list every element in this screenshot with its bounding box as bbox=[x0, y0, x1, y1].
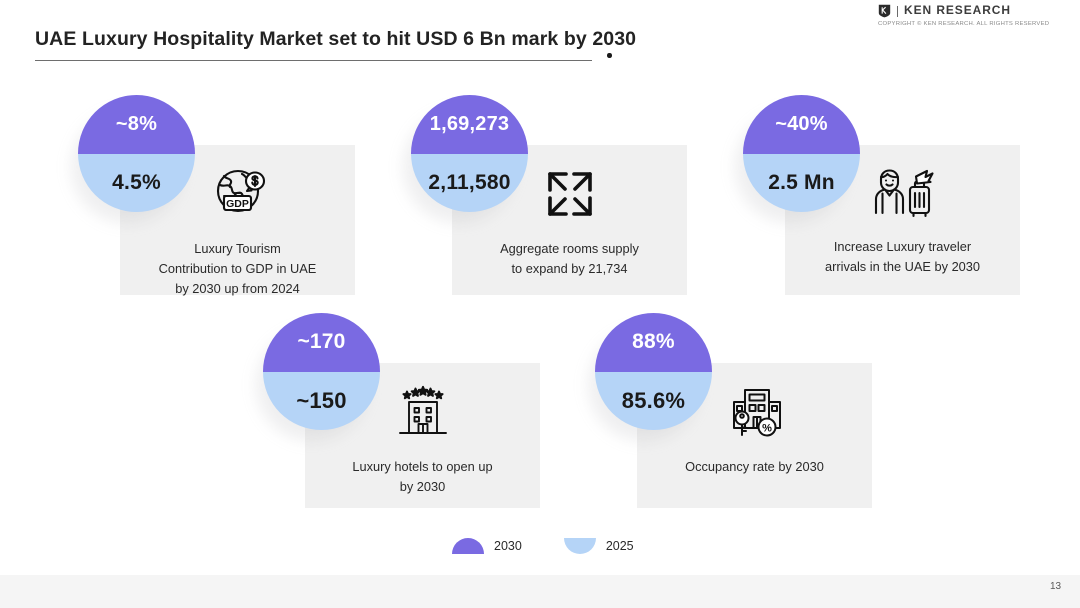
bubble-value-2030: ~8% bbox=[116, 113, 157, 136]
bubble-value-2030: ~40% bbox=[775, 113, 828, 136]
legend-label-2025: 2025 bbox=[606, 539, 634, 553]
stat-bubble-aggregate-rooms-supply[interactable]: 1,69,273 2,11,580 bbox=[411, 95, 528, 212]
chart-legend: 2030 2025 bbox=[452, 538, 634, 554]
stat-card-caption: Luxury hotels to open up by 2030 bbox=[352, 457, 492, 497]
bubble-half-2030: 1,69,273 bbox=[411, 95, 528, 154]
stat-card-caption: Aggregate rooms supply to expand by 21,7… bbox=[500, 239, 639, 279]
bubble-value-2025: 2,11,580 bbox=[428, 171, 510, 195]
page-title: UAE Luxury Hospitality Market set to hit… bbox=[35, 28, 675, 51]
title-underline bbox=[35, 60, 592, 61]
bubble-half-2030: ~170 bbox=[263, 313, 380, 372]
page-number: 13 bbox=[1050, 581, 1061, 592]
bubble-half-2025: 2.5 Mn bbox=[743, 154, 860, 213]
brand-divider bbox=[897, 6, 898, 17]
stat-card-caption: Luxury Tourism Contribution to GDP in UA… bbox=[159, 239, 317, 299]
stat-card-caption: Increase Luxury traveler arrivals in the… bbox=[825, 237, 980, 277]
five-star-hotel-icon bbox=[392, 381, 454, 443]
legend-item-2025[interactable]: 2025 bbox=[564, 538, 634, 554]
bubble-value-2030: 1,69,273 bbox=[430, 113, 509, 136]
page-title-block: UAE Luxury Hospitality Market set to hit… bbox=[35, 28, 675, 61]
title-bullet-dot bbox=[607, 53, 612, 58]
legend-label-2030: 2030 bbox=[494, 539, 522, 553]
bubble-value-2025: ~150 bbox=[296, 388, 346, 414]
bubble-value-2025: 4.5% bbox=[112, 171, 161, 195]
bubble-half-2030: ~40% bbox=[743, 95, 860, 154]
bubble-value-2030: ~170 bbox=[297, 330, 345, 354]
legend-swatch-2030-icon bbox=[452, 538, 484, 554]
hotel-key-percent-icon: % bbox=[724, 381, 786, 443]
legend-swatch-2025-icon bbox=[564, 538, 596, 554]
globe-gdp-dollar-icon: GDP bbox=[208, 163, 268, 225]
stat-card-caption: Occupancy rate by 2030 bbox=[685, 457, 824, 477]
stat-bubble-luxury-hotels-openings[interactable]: ~170 ~150 bbox=[263, 313, 380, 430]
expand-arrows-icon bbox=[542, 163, 598, 225]
bubble-value-2025: 2.5 Mn bbox=[768, 171, 835, 195]
bubble-half-2025: 4.5% bbox=[78, 154, 195, 213]
bubble-half-2025: 85.6% bbox=[595, 372, 712, 431]
bubble-half-2030: ~8% bbox=[78, 95, 195, 154]
stat-bubble-luxury-tourism-gdp[interactable]: ~8% 4.5% bbox=[78, 95, 195, 212]
footer-copyright: COPYRIGHT © KEN RESEARCH. ALL RIGHTS RES… bbox=[878, 21, 1049, 27]
bubble-half-2025: ~150 bbox=[263, 372, 380, 431]
brand-name: KEN RESEARCH bbox=[904, 5, 1011, 17]
footer-bar bbox=[0, 575, 1080, 608]
bubble-half-2025: 2,11,580 bbox=[411, 154, 528, 213]
svg-text:%: % bbox=[762, 423, 772, 435]
bubble-half-2030: 88% bbox=[595, 313, 712, 372]
brand-logo: KEN RESEARCH bbox=[878, 4, 1007, 18]
traveler-luggage-plane-icon bbox=[872, 161, 934, 223]
svg-text:GDP: GDP bbox=[226, 198, 249, 210]
bubble-value-2030: 88% bbox=[632, 330, 675, 354]
ken-shield-icon bbox=[878, 4, 891, 18]
legend-item-2030[interactable]: 2030 bbox=[452, 538, 522, 554]
stat-bubble-luxury-traveler-arrivals[interactable]: ~40% 2.5 Mn bbox=[743, 95, 860, 212]
bubble-value-2025: 85.6% bbox=[622, 388, 685, 414]
stat-bubble-occupancy-rate[interactable]: 88% 85.6% bbox=[595, 313, 712, 430]
